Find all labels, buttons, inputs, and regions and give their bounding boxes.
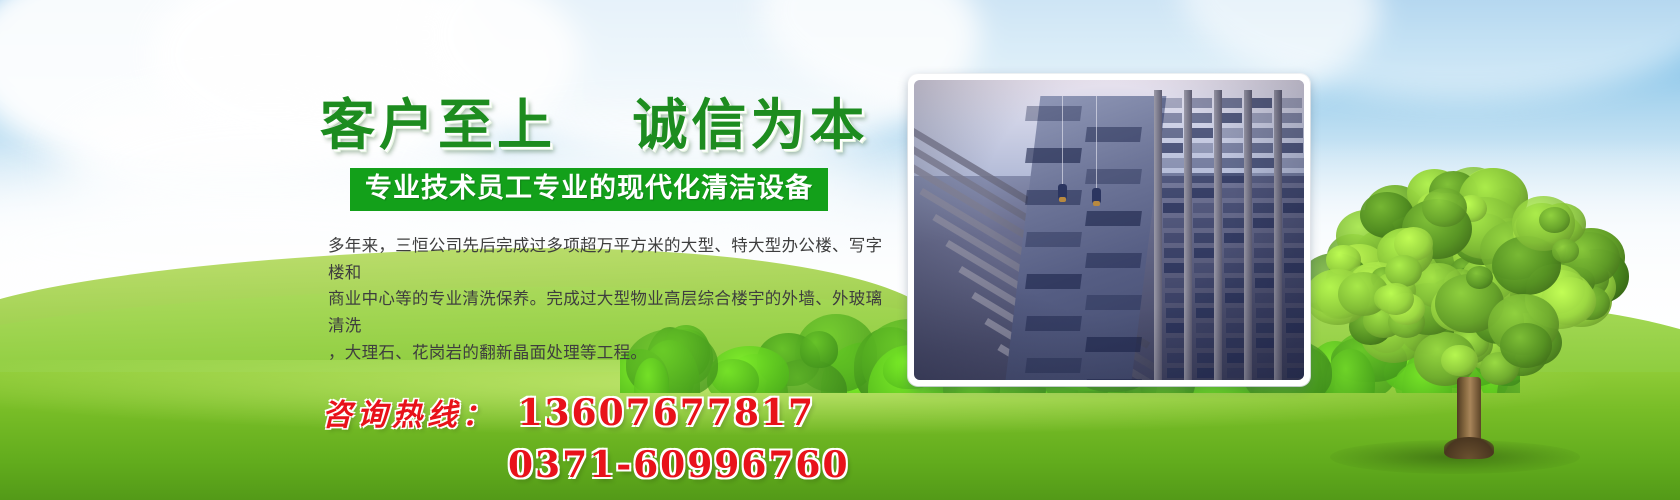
headline: 客户至上 诚信为本 bbox=[320, 96, 900, 154]
subtitle-green-bar: 专业技术员工专业的现代化清洁设备 bbox=[350, 168, 828, 211]
building-facade-photo: 高层建筑外墙清洗作业照片 bbox=[914, 80, 1304, 380]
hotline-mobile-number[interactable]: 13607677817 bbox=[517, 392, 815, 434]
description-line: 商业中心等的专业清洗保养。完成过大型物业高层综合楼宇的外墙、外玻璃清洗 bbox=[328, 286, 894, 339]
hotline-block: 咨询热线： 13607677817 0371-60996760 bbox=[322, 390, 900, 486]
promo-banner: 高层建筑外墙清洗作业照片 客户至上 诚信为本 专业技术员工专业的现代化清洁设备 … bbox=[0, 0, 1680, 500]
photo-vignette bbox=[914, 80, 1304, 380]
tree-foliage bbox=[1441, 345, 1478, 377]
subtitle-text: 专业技术员工专业的现代化清洁设备 bbox=[365, 173, 813, 204]
hotline-label: 咨询热线： bbox=[322, 398, 497, 433]
tree-foliage bbox=[1500, 323, 1552, 368]
tree-foliage bbox=[1539, 207, 1569, 233]
description-line: ，大理石、花岗岩的翻新晶面处理等工程。 bbox=[328, 340, 894, 367]
tree-foliage bbox=[1422, 188, 1467, 227]
hotline-landline-number[interactable]: 0371-60996760 bbox=[508, 444, 900, 486]
tree-foliage bbox=[1552, 239, 1580, 263]
tree-trunk bbox=[1457, 377, 1481, 459]
description-line: 多年来，三恒公司先后完成过多项超万平方米的大型、特大型办公楼、写字楼和 bbox=[328, 233, 894, 286]
headline-part-2: 诚信为本 bbox=[632, 92, 868, 157]
headline-part-1: 客户至上 bbox=[320, 92, 556, 157]
description-paragraph: 多年来，三恒公司先后完成过多项超万平方米的大型、特大型办公楼、写字楼和 商业中心… bbox=[328, 233, 894, 367]
building-photo-card[interactable]: 高层建筑外墙清洗作业照片 bbox=[908, 74, 1310, 386]
copy-block: 客户至上 诚信为本 专业技术员工专业的现代化清洁设备 多年来，三恒公司先后完成过… bbox=[320, 96, 900, 486]
green-tree bbox=[1318, 172, 1618, 462]
tree-foliage bbox=[1466, 266, 1493, 289]
